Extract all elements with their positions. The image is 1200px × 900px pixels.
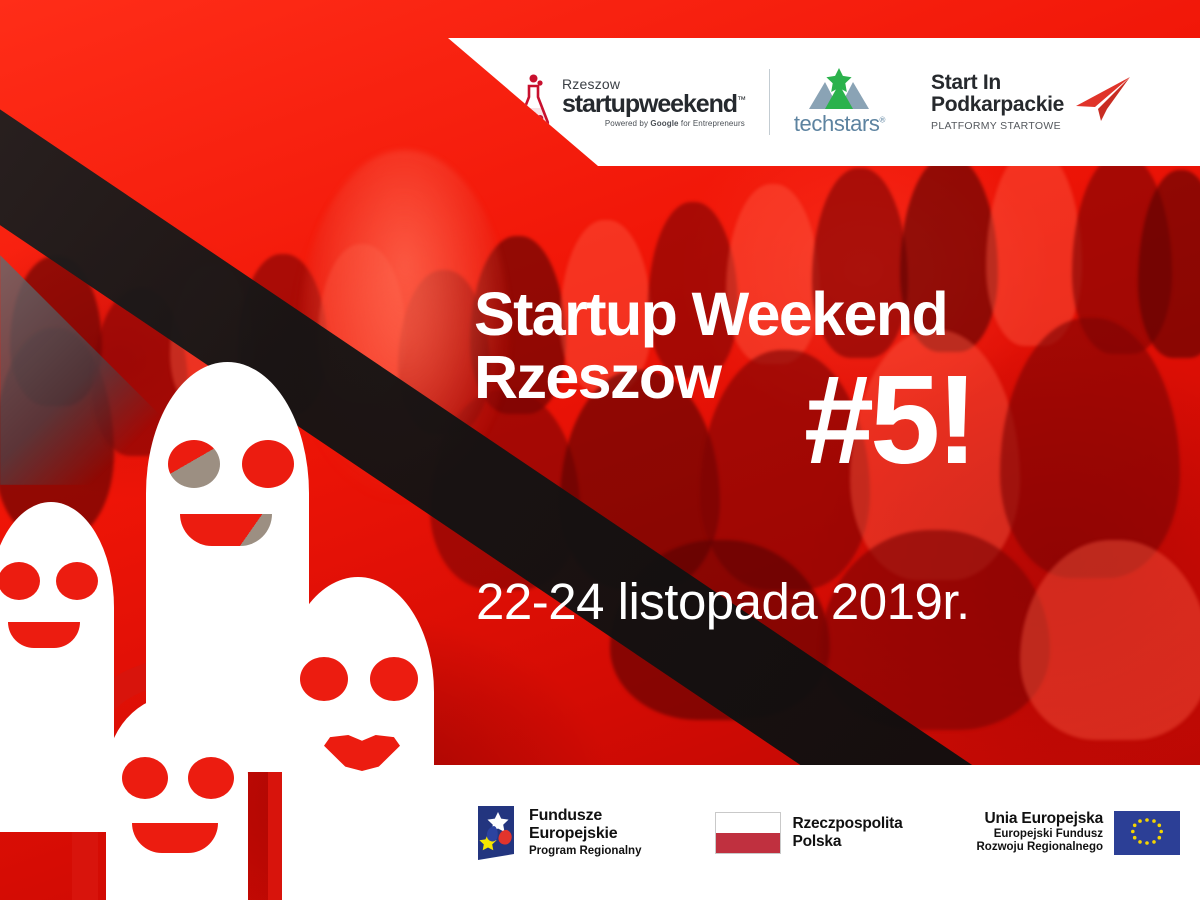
unia-europejska-logo[interactable]: Unia Europejska Europejski Fundusz Rozwo… xyxy=(977,810,1181,855)
eu-funding-footer: Fundusze Europejskie Program Regionalny … xyxy=(430,765,1200,900)
polska-wordmark: Rzeczpospolita Polska xyxy=(792,815,902,851)
eu-flag-icon xyxy=(1114,811,1180,855)
fe-line-2: Europejskie xyxy=(529,825,641,843)
sw-wordmark-label: startupweekend™ xyxy=(562,92,745,117)
techstars-wordmark: techstars® xyxy=(794,111,885,137)
techstars-logo[interactable]: techstars® xyxy=(794,68,885,137)
sip-line-2: Podkarpackie xyxy=(931,94,1064,116)
logo-divider xyxy=(769,69,770,135)
google-brand: Google xyxy=(650,119,678,128)
ue-line-3: Rozwoju Regionalnego xyxy=(977,841,1104,854)
mascot-figure-bottom xyxy=(106,695,248,900)
mascot-figure-small-left xyxy=(0,502,114,832)
startup-weekend-wordmark: Rzeszow startupweekend™ Powered by Googl… xyxy=(562,77,745,128)
sw-trademark: ™ xyxy=(737,94,745,104)
mountain-star-icon xyxy=(808,68,870,110)
sw-city-label: Rzeszow xyxy=(562,77,745,91)
mascot-figure-lips xyxy=(282,577,434,900)
poland-flag-icon xyxy=(715,812,781,854)
ue-line-1: Unia Europejska xyxy=(985,810,1103,828)
event-title-block: Startup Weekend Rzeszow #5! xyxy=(474,283,947,409)
paper-plane-icon xyxy=(1074,76,1132,122)
mascot-group xyxy=(0,330,430,900)
sip-wordmark: Start In Podkarpackie PLATFORMY STARTOWE xyxy=(931,72,1064,132)
ue-line-2: Europejski Fundusz xyxy=(994,828,1103,841)
pl-line-2: Polska xyxy=(792,833,902,851)
fe-line-3: Program Regionalny xyxy=(529,845,641,858)
mascot-eye-right xyxy=(370,657,418,701)
startup-weekend-logo[interactable]: Rzeszow startupweekend™ Powered by Googl… xyxy=(513,74,745,130)
mascot-eye-left xyxy=(0,562,40,600)
mascot-eye-left xyxy=(122,757,168,799)
sip-line-1: Start In xyxy=(931,72,1064,94)
mascot-eye-right xyxy=(56,562,98,600)
rzeczpospolita-polska-logo[interactable]: Rzeczpospolita Polska xyxy=(715,812,902,854)
fundusze-europejskie-stars-icon xyxy=(474,804,518,862)
edition-number: #5! xyxy=(804,357,974,483)
mascot-eye-right xyxy=(188,757,234,799)
fundusze-europejskie-wordmark: Fundusze Europejskie Program Regionalny xyxy=(529,807,641,858)
mascot-eye-left xyxy=(168,440,220,488)
sw-powered-by: Powered by Google for Entrepreneurs xyxy=(562,120,745,128)
fe-line-1: Fundusze xyxy=(529,807,641,825)
sponsor-logo-row: Rzeszow startupweekend™ Powered by Googl… xyxy=(513,68,1132,137)
start-in-podkarpackie-logo[interactable]: Start In Podkarpackie PLATFORMY STARTOWE xyxy=(931,72,1132,132)
event-poster: Rzeszow startupweekend™ Powered by Googl… xyxy=(0,0,1200,900)
techstars-trademark: ® xyxy=(880,115,886,124)
sip-line-3: PLATFORMY STARTOWE xyxy=(931,121,1064,132)
unia-wordmark: Unia Europejska Europejski Fundusz Rozwo… xyxy=(977,810,1104,855)
pl-line-1: Rzeczpospolita xyxy=(792,815,902,833)
event-date: 22-24 listopada 2019r. xyxy=(476,572,970,631)
fundusze-europejskie-logo[interactable]: Fundusze Europejskie Program Regionalny xyxy=(474,804,641,862)
page-title-line-1: Startup Weekend xyxy=(474,283,947,346)
mascot-eye-left xyxy=(300,657,348,701)
mascot-eye-right xyxy=(242,440,294,488)
